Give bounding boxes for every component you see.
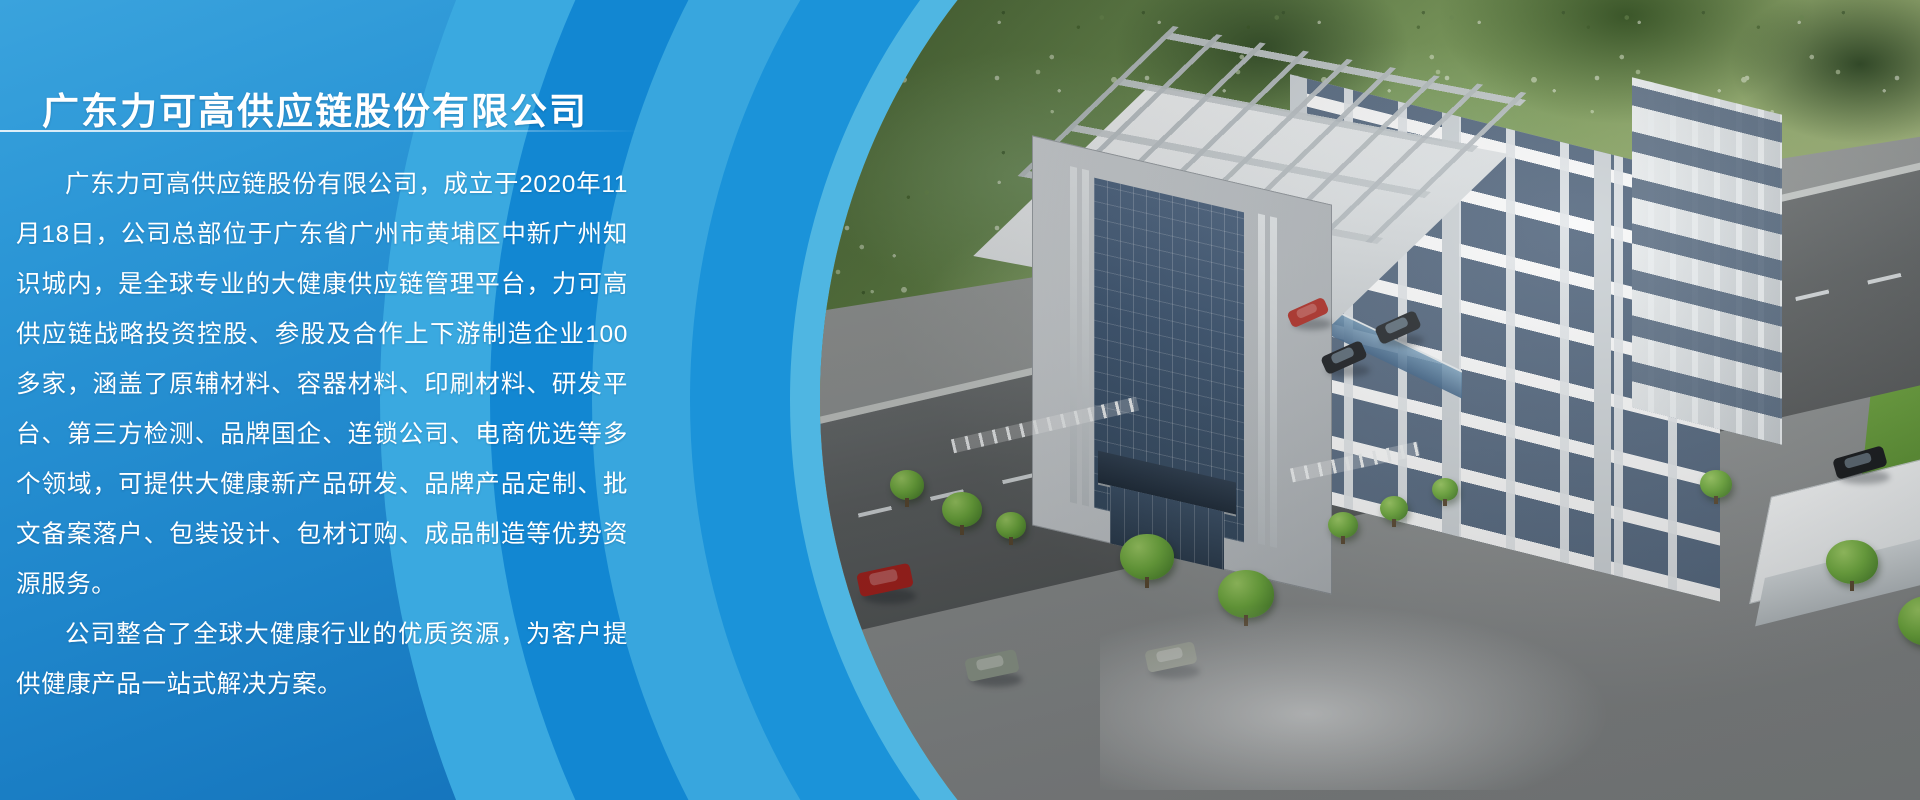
slim-tower-windows	[1632, 77, 1782, 444]
industrial-park-aerial-photo: 力可高供应链产业园	[820, 0, 1920, 800]
office-tower-building	[1032, 135, 1332, 594]
company-description: 广东力可高供应链股份有限公司，成立于2020年11月18日，公司总部位于广东省广…	[16, 160, 628, 710]
tower-fin-4	[1270, 216, 1277, 548]
hero-photo-mask: 力可高供应链产业园	[820, 0, 1920, 800]
tower-fin-2	[1082, 169, 1089, 507]
tower-fin-1	[1070, 166, 1077, 504]
slim-tower-building	[1632, 77, 1782, 444]
tower-fin-3	[1258, 214, 1265, 546]
company-paragraph-1: 广东力可高供应链股份有限公司，成立于2020年11月18日，公司总部位于广东省广…	[16, 160, 628, 610]
page-title: 广东力可高供应链股份有限公司	[42, 81, 588, 135]
title-divider	[0, 130, 640, 132]
intro-text-panel: 广东力可高供应链股份有限公司 广东力可高供应链股份有限公司，成立于2020年11…	[0, 0, 640, 800]
banner-stage: 力可高供应链产业园	[0, 0, 1920, 800]
company-paragraph-2: 公司整合了全球大健康行业的优质资源，为客户提供健康产品一站式解决方案。	[16, 610, 628, 710]
